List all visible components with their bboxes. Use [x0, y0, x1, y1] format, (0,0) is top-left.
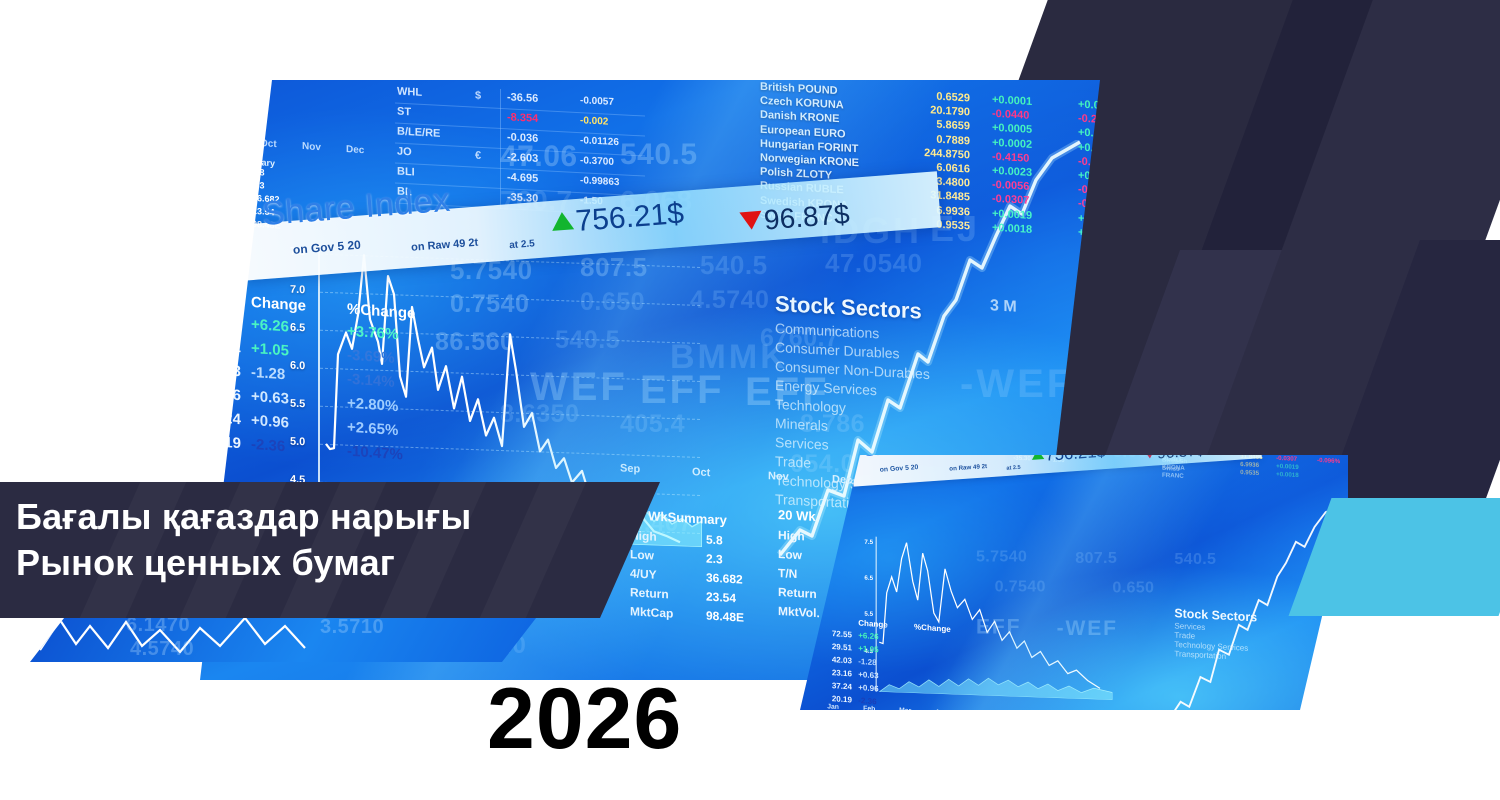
ticker-value: -0.036: [507, 131, 538, 145]
summary-row: MktVol.24.3: [778, 604, 816, 625]
ticker-symbol: JO: [397, 146, 412, 159]
currency-price: 20.1790: [908, 103, 970, 118]
summary-key: Return: [778, 585, 817, 601]
share-index-down-value: 96.87$: [1156, 455, 1205, 463]
ticker-currency: $: [475, 90, 481, 102]
share-index-title: Share Index: [863, 455, 965, 461]
currency-change: +0.0019: [1276, 463, 1299, 471]
summary-value: 23.54: [706, 590, 736, 606]
watermark-text: -WEF: [960, 362, 1074, 407]
title-line-russian: Рынок ценных бумаг: [16, 542, 395, 584]
ticker-value: -36.56: [507, 91, 538, 105]
month-label: Oct: [692, 466, 710, 479]
share-index-up-value: 756.21$: [1045, 455, 1107, 465]
cell-price: 37.24: [200, 407, 241, 429]
summary-key: T/N: [778, 566, 797, 581]
month-label: Oct: [260, 138, 277, 150]
month-label: Dec: [346, 144, 364, 156]
month-label: Mar: [899, 707, 911, 710]
y-tick-label: 6.5: [864, 575, 873, 582]
summary-row: T/N57.04: [778, 566, 816, 587]
summary-key: 4/UY: [630, 566, 657, 581]
ticker-change: -0.01126: [580, 135, 619, 148]
currency-change: -0.4150: [992, 150, 1029, 164]
currency-change: +0.0019: [992, 207, 1032, 221]
share-index-title: Share Index: [261, 181, 452, 234]
ghost-number: 0.650: [1112, 578, 1154, 597]
share-index-sub2: on Raw 49 2t: [949, 463, 987, 472]
change-table: Change %Change 72.55 +6.26 +3.76% 29.51 …: [200, 289, 445, 474]
currency-change: +0.0018: [992, 221, 1032, 235]
col-header-pct: %Change: [347, 301, 415, 323]
month-label: Nov: [302, 141, 321, 153]
currency-price: 0.6529: [908, 89, 970, 104]
cell-change: +0.63: [858, 669, 878, 680]
currency-price: 0.9535: [1240, 469, 1259, 477]
currency-price: 244.8750: [908, 146, 970, 161]
index-line-chart-inset: 7.5 6.5 5.5 4.5: [864, 536, 1112, 700]
sectors-title: Stock Sectors: [775, 291, 930, 325]
cell-change: +0.96: [858, 683, 878, 694]
month-label: Sep: [620, 462, 640, 475]
summary-row: High9.2: [778, 528, 816, 549]
currency-pct: -0.096%: [1317, 457, 1340, 465]
share-index-sub2: on Raw 49 2t: [411, 237, 479, 254]
summary-value: 2.3: [706, 552, 723, 567]
ticker-value: -8.354: [507, 111, 538, 125]
summary-title: 20 Wk: [778, 507, 816, 524]
cell-price: 42.03: [200, 359, 241, 381]
cell-price: 72.55: [200, 311, 241, 333]
currency-change: +0.0018: [1276, 471, 1299, 479]
month-label: Apr: [935, 708, 947, 710]
share-index-sub1: on Gov 5 20: [292, 238, 361, 257]
ticker-change: -0.0057: [580, 95, 614, 108]
ghost-number: 540.5: [700, 250, 768, 281]
ticker-symbol: WHL: [397, 86, 422, 99]
slide-canvas: 47.06 540.5 760.7 6.068 5.7540 807.5 540…: [0, 0, 1500, 800]
mini-key: Low: [208, 177, 226, 188]
ticker-symbol: ST: [397, 106, 411, 119]
title-line-kazakh: Бағалы қағаздар нарығы: [16, 496, 471, 538]
mini-summary-title: 84 WkSummary: [208, 154, 275, 169]
y-tick-label: 7.5: [864, 539, 873, 546]
share-index-down-value: 96.87$: [763, 198, 851, 236]
summary-value: 36.682: [706, 571, 743, 587]
currency-price: 0.7889: [908, 132, 970, 147]
stock-market-image-inset: 6.068 540.5 5.7540 807.5 540.5 0.7540 0.…: [800, 455, 1360, 710]
ticker-change: -0.3700: [580, 155, 614, 168]
summary-20wk-panel: 20 Wk High9.2 Low3.1 T/N57.04 Return93.5…: [778, 507, 816, 625]
summary-row: Return93.56: [778, 585, 816, 606]
triangle-up-icon: [551, 211, 574, 231]
share-index-sub3: at 2.5: [509, 238, 535, 251]
share-index-sub1: on Gov 5 20: [879, 463, 918, 473]
year-label: 2026: [487, 676, 682, 762]
y-tick-label: 7.0: [290, 284, 305, 297]
ghost-number: 540.5: [1174, 549, 1216, 568]
currency-change: -0.0307: [992, 193, 1029, 207]
currency-change: -0.0307: [1276, 455, 1297, 463]
currency-change: -0.0056: [992, 179, 1029, 193]
ticker-symbol: BLI: [397, 166, 415, 179]
triangle-down-icon: [739, 211, 762, 231]
ticker-change: -0.99863: [580, 175, 619, 188]
ticker-value: -2.603: [507, 151, 538, 165]
share-index-sub3: at 2.5: [1006, 464, 1021, 471]
mini-key: MktCap: [208, 216, 241, 228]
triangle-up-icon: [1031, 455, 1044, 460]
mini-key: 4/UY: [208, 190, 228, 201]
cell-price: 23.16: [200, 383, 241, 405]
currency-price: 6.9936: [1240, 461, 1259, 469]
cell-change: +6.26: [858, 630, 878, 641]
cell-change: +1.05: [858, 643, 878, 654]
sectors-badge: 3 M: [990, 297, 1017, 316]
summary-84wk-panel: 84 WkSummary High5.8 Low2.3 4/UY36.682 R…: [630, 507, 727, 628]
currency-change: -0.0440: [992, 108, 1029, 122]
cell-price: 20.19: [200, 431, 241, 453]
summary-key: MktCap: [630, 604, 673, 620]
ghost-number: 3.5710: [320, 616, 384, 639]
chart-series-path: [877, 537, 1113, 700]
currency-price: 5.8659: [908, 117, 970, 132]
cell-change: -2.36: [858, 696, 876, 707]
summary-row: Low3.1: [778, 547, 816, 568]
mini-value: 5.8: [252, 167, 265, 178]
ghost-number: 4.5740: [130, 638, 194, 661]
ghost-number: 47.0540: [825, 248, 922, 279]
currency-change: +0.0023: [992, 165, 1032, 179]
currency-change: +0.0005: [992, 122, 1032, 136]
currency-change: +0.0002: [992, 136, 1032, 150]
month-label: Nov: [768, 470, 789, 483]
title-banner: Бағалы қағаздар нарығы Рынок ценных бума…: [0, 482, 660, 618]
summary-key: MktVol.: [778, 604, 820, 620]
mini-value: 2.3: [252, 180, 265, 191]
month-label: Dec: [832, 474, 852, 487]
summary-key: Low: [778, 547, 802, 562]
ticker-symbol: B/LE/RE: [397, 126, 440, 140]
summary-key: Return: [630, 585, 669, 601]
ticker-value: -4.695: [507, 171, 538, 185]
currency-name: Swiss FRANC: [1162, 465, 1184, 480]
mini-key: High: [208, 164, 228, 175]
summary-row: MktCap98.48E: [630, 604, 727, 628]
ticker-currency: €: [475, 150, 481, 162]
summary-value: 5.8: [706, 533, 723, 548]
cell-price: 29.51: [200, 335, 241, 357]
y-tick-label: 5.5: [864, 611, 873, 618]
triangle-down-icon: [1143, 455, 1156, 459]
share-index-up-value: 756.21$: [574, 197, 685, 239]
summary-key: Low: [630, 547, 654, 562]
cell-change: -1.28: [858, 656, 876, 667]
ticker-change: -0.002: [580, 115, 608, 127]
col-header-change: Change: [858, 618, 888, 629]
stock-sectors-inset: Stock Sectors Services Trade Technology …: [1174, 607, 1257, 663]
col-header-change: Change: [251, 294, 306, 315]
summary-key: High: [778, 528, 805, 543]
summary-value: 98.48E: [706, 609, 744, 625]
currency-change: +0.0001: [992, 94, 1032, 108]
month-label: Jan: [827, 703, 839, 710]
mini-key: Return: [208, 203, 237, 215]
